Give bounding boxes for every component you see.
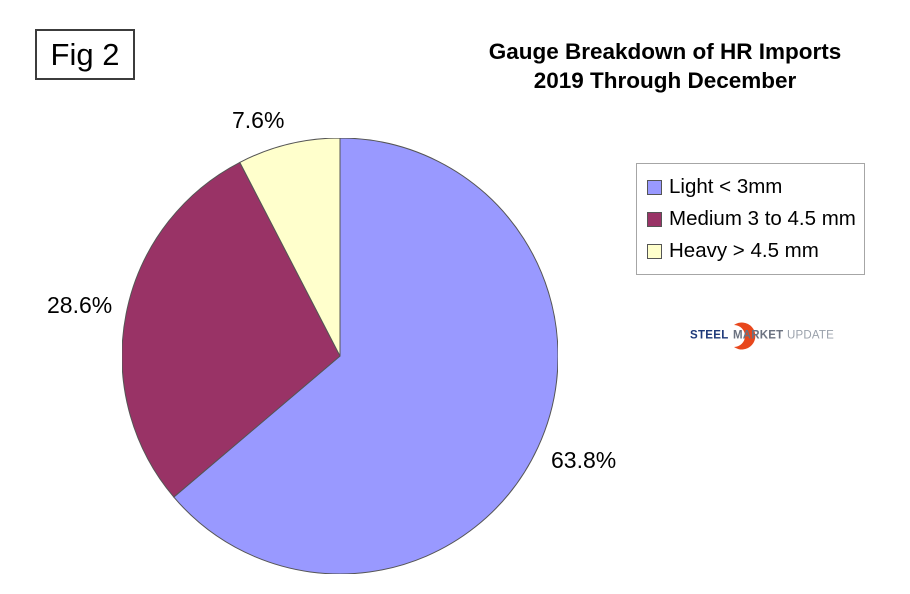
pie-chart-svg: [122, 138, 558, 574]
chart-title: Gauge Breakdown of HR Imports 2019 Throu…: [440, 38, 890, 96]
steel-market-update-logo: STEEL MARKET UPDATE: [686, 321, 836, 351]
logo-word-market: MARKET: [733, 330, 783, 342]
legend-item-heavy: Heavy > 4.5 mm: [647, 235, 864, 267]
pie-chart: [122, 138, 558, 574]
logo-svg: STEEL MARKET UPDATE: [686, 321, 836, 351]
data-label-heavy: 7.6%: [232, 107, 284, 134]
logo-word-update: UPDATE: [787, 330, 834, 342]
legend-label-light: Light < 3mm: [669, 177, 782, 198]
logo-word-steel: STEEL: [690, 330, 729, 342]
data-label-light: 63.8%: [551, 447, 616, 474]
legend-item-light: Light < 3mm: [647, 171, 864, 203]
legend-label-heavy: Heavy > 4.5 mm: [669, 241, 819, 262]
legend-item-medium: Medium 3 to 4.5 mm: [647, 203, 864, 235]
legend-label-medium: Medium 3 to 4.5 mm: [669, 209, 856, 230]
data-label-medium: 28.6%: [47, 292, 112, 319]
chart-legend: Light < 3mm Medium 3 to 4.5 mm Heavy > 4…: [636, 163, 865, 275]
legend-swatch-heavy-icon: [647, 244, 662, 259]
figure-label-box: Fig 2: [35, 29, 135, 80]
legend-swatch-light-icon: [647, 180, 662, 195]
legend-swatch-medium-icon: [647, 212, 662, 227]
figure-label-text: Fig 2: [51, 39, 120, 70]
chart-title-line-1: Gauge Breakdown of HR Imports: [440, 38, 890, 67]
chart-title-line-2: 2019 Through December: [440, 67, 890, 96]
